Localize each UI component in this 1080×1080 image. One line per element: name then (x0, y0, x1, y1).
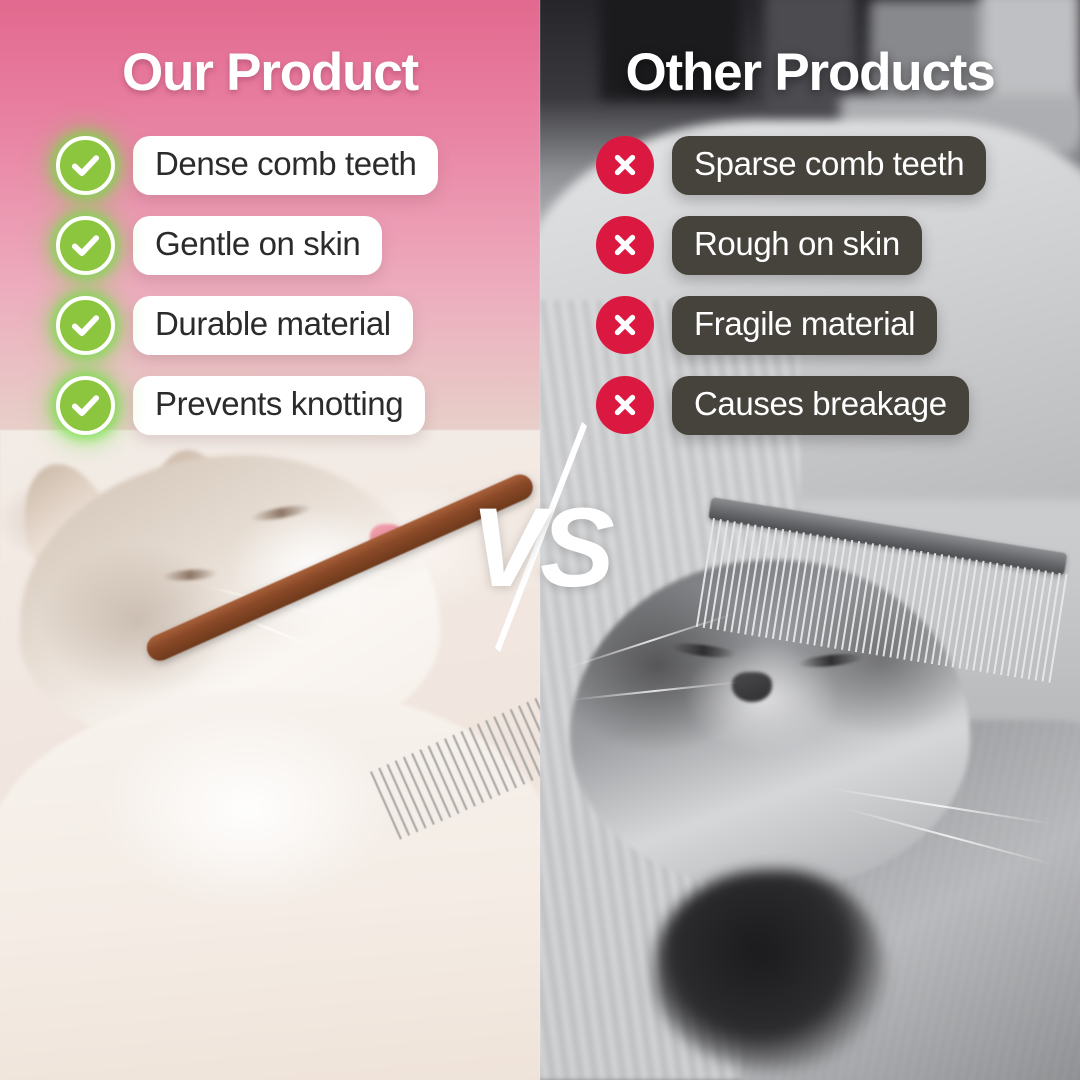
left-feature-list: Dense comb teeth Gentle on skin Durable … (56, 136, 438, 435)
left-feature-row: Durable material (56, 296, 413, 355)
left-feature-row: Dense comb teeth (56, 136, 438, 195)
left-feature-row: Prevents knotting (56, 376, 425, 435)
check-circle-icon (56, 376, 115, 435)
right-feature-list: Sparse comb teeth Rough on skin Fragile … (596, 136, 986, 435)
cross-circle-icon (596, 376, 654, 434)
panel-divider (539, 0, 541, 1080)
left-feature-label: Gentle on skin (133, 216, 382, 275)
right-feature-label: Fragile material (672, 296, 937, 355)
check-circle-icon (56, 296, 115, 355)
comparison-infographic: Our Product Dense comb teeth Gentle on s… (0, 0, 1080, 1080)
right-feature-row: Rough on skin (596, 216, 922, 275)
right-feature-label: Causes breakage (672, 376, 969, 435)
left-panel: Our Product Dense comb teeth Gentle on s… (0, 0, 540, 1080)
right-panel: Other Products Sparse comb teeth Rough o… (540, 0, 1080, 1080)
right-feature-row: Sparse comb teeth (596, 136, 986, 195)
right-cat-nose (732, 672, 772, 702)
right-feature-label: Rough on skin (672, 216, 922, 275)
right-feature-row: Causes breakage (596, 376, 969, 435)
left-heading: Our Product (0, 0, 540, 99)
right-feature-row: Fragile material (596, 296, 937, 355)
left-feature-label: Prevents knotting (133, 376, 425, 435)
right-heading: Other Products (540, 0, 1080, 99)
check-circle-icon (56, 216, 115, 275)
right-feature-label: Sparse comb teeth (672, 136, 986, 195)
cross-circle-icon (596, 216, 654, 274)
left-feature-label: Durable material (133, 296, 413, 355)
cross-circle-icon (596, 136, 654, 194)
left-feature-row: Gentle on skin (56, 216, 382, 275)
left-feature-label: Dense comb teeth (133, 136, 438, 195)
cross-circle-icon (596, 296, 654, 354)
right-cat-shadow (655, 870, 885, 1070)
check-circle-icon (56, 136, 115, 195)
